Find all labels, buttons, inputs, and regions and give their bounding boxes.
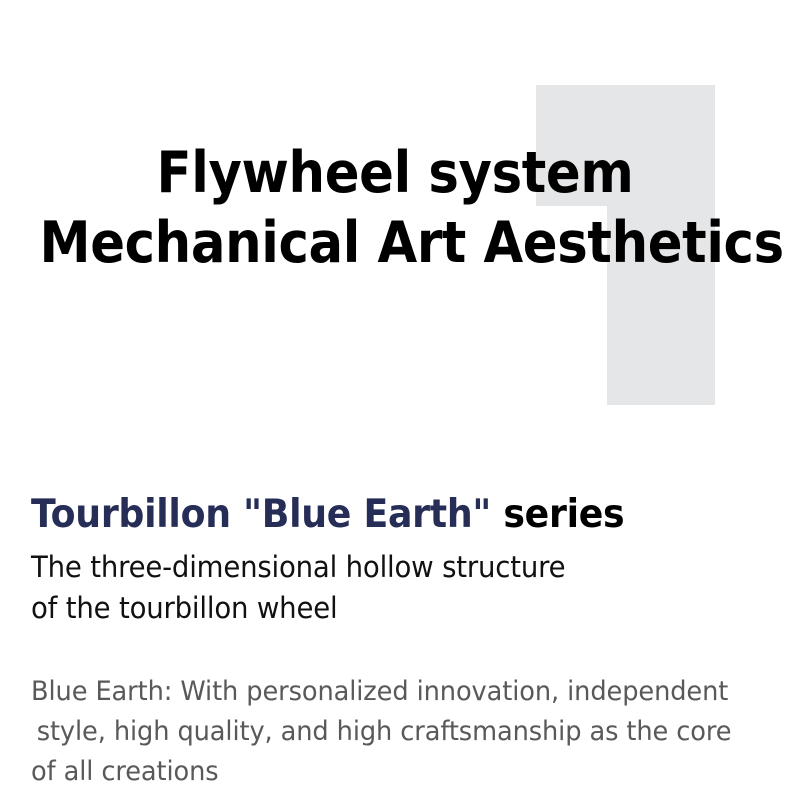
section-subhead-line-2: of the tourbillon wheel <box>31 588 734 629</box>
section-heading: Tourbillon "Blue Earth" series <box>31 492 719 538</box>
section-subhead: The three-dimensional hollow structure o… <box>31 547 734 629</box>
brand-caption-line-3: of all creations <box>31 752 734 792</box>
brand-caption: Blue Earth: With personalized innovation… <box>31 672 734 792</box>
hero-title: Flywheel system Mechanical Art Aesthetic… <box>0 138 790 278</box>
hero-title-line-2: Mechanical Art Aesthetics <box>40 208 751 278</box>
section-heading-accent: Tourbillon "Blue Earth" <box>31 492 491 537</box>
section-heading-plain: series <box>491 492 624 537</box>
hero-title-line-1: Flywheel system <box>40 138 751 208</box>
promo-page: Flywheel system Mechanical Art Aesthetic… <box>0 0 790 800</box>
brand-caption-line-2: style, high quality, and high craftsmans… <box>31 712 734 752</box>
content-block: Tourbillon "Blue Earth" series The three… <box>31 492 771 792</box>
brand-caption-line-1: Blue Earth: With personalized innovation… <box>31 672 734 712</box>
section-subhead-line-1: The three-dimensional hollow structure <box>31 547 734 588</box>
